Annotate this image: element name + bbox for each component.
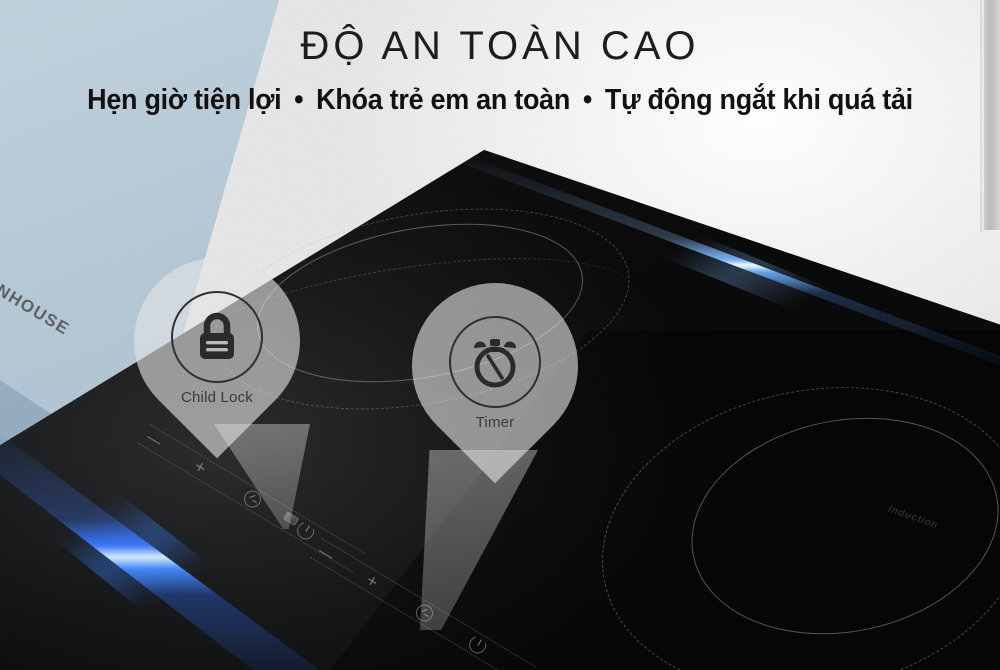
bullet-separator-1: • xyxy=(289,84,309,116)
child-lock-icon-ring xyxy=(171,291,263,383)
padlock-icon xyxy=(194,312,240,362)
timer-label: Timer xyxy=(476,414,515,431)
feature-item-child-lock: Khóa trẻ em an toàn xyxy=(316,84,570,116)
page-title: ĐỘ AN TOÀN CAO xyxy=(0,24,1000,69)
promo-banner: Induction NHOUSE — + — + xyxy=(0,0,1000,670)
alarm-clock-icon xyxy=(468,336,522,388)
feature-item-overload: Tự động ngắt khi quá tải xyxy=(605,84,913,116)
child-lock-label: Child Lock xyxy=(181,389,253,406)
feature-item-timer: Hẹn giờ tiện lợi xyxy=(87,84,281,116)
timer-icon-ring xyxy=(449,316,541,408)
feature-subtitle: Hẹn giờ tiện lợi • Khóa trẻ em an toàn •… xyxy=(35,84,965,117)
bullet-separator-2: • xyxy=(577,84,597,116)
